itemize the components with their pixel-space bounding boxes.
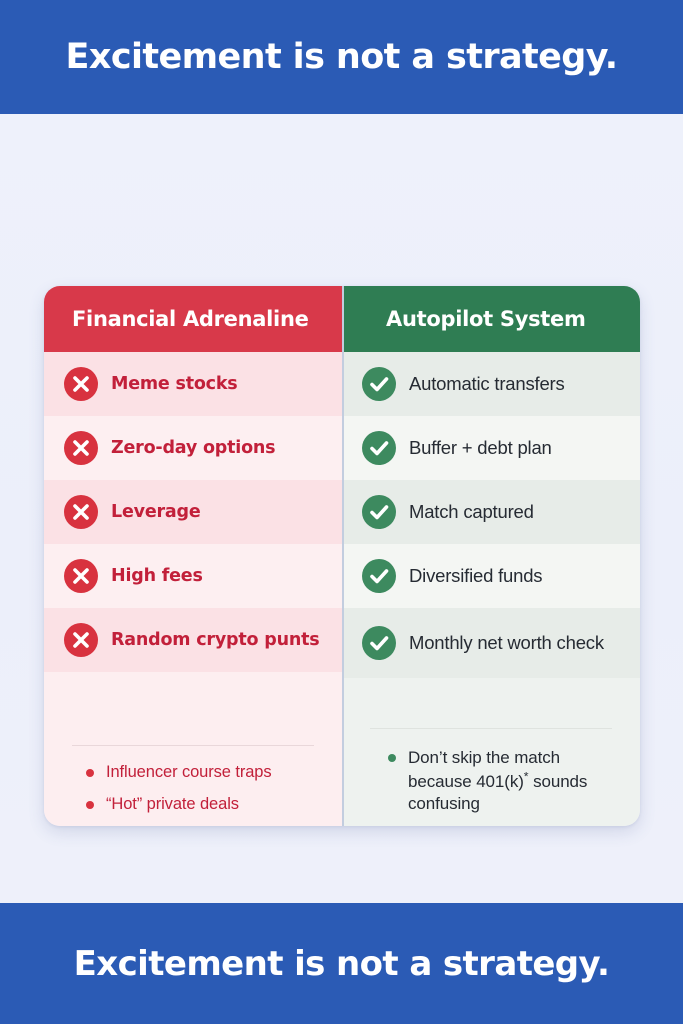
left-column-header-label: Financial Adrenaline [72, 307, 309, 331]
x-circle-icon [64, 367, 98, 401]
bottom-banner-text: Excitement is not a strategy. [74, 944, 610, 984]
list-item-label: Monthly net worth check [409, 632, 604, 654]
list-item[interactable]: Monthly net worth check [342, 608, 640, 678]
list-item[interactable]: Diversified funds [342, 544, 640, 608]
list-item[interactable]: Automatic transfers [342, 352, 640, 416]
x-circle-icon [64, 559, 98, 593]
sub-list-item[interactable]: Influencer course traps [84, 762, 318, 783]
list-item-label: Automatic transfers [409, 373, 565, 395]
sub-list-item-label: Influencer course traps [106, 763, 272, 781]
sub-list-item[interactable]: Don’t skip the match because 401(k)* sou… [386, 747, 616, 815]
list-item-label: Buffer + debt plan [409, 437, 552, 459]
list-item-label: Diversified funds [409, 565, 542, 587]
left-subsection: Influencer course traps “Hot” private de… [44, 745, 342, 826]
right-column-header-label: Autopilot System [370, 307, 586, 331]
check-circle-icon [362, 559, 396, 593]
right-column-rows: Automatic transfers Buffer + debt plan M… [342, 352, 640, 728]
sub-list-item-label: Don’t skip the match because 401(k)* sou… [408, 748, 587, 813]
bullet-dot-icon [388, 754, 396, 762]
list-item-label: Zero-day options [111, 438, 275, 459]
content-stage: Financial Adrenaline Meme stocks Zero-da… [0, 114, 683, 903]
comparison-card: Financial Adrenaline Meme stocks Zero-da… [44, 286, 640, 826]
list-item-label: Meme stocks [111, 374, 238, 395]
list-item[interactable]: Leverage [44, 480, 342, 544]
list-item-label: Leverage [111, 502, 201, 523]
list-item-label: High fees [111, 566, 203, 587]
list-item[interactable]: Meme stocks [44, 352, 342, 416]
sub-list-item[interactable]: “Hot” private deals [84, 794, 318, 815]
column-autopilot-system: Autopilot System Automatic transfers Buf… [342, 286, 640, 826]
column-financial-adrenaline: Financial Adrenaline Meme stocks Zero-da… [44, 286, 342, 826]
list-item-label: Match captured [409, 501, 534, 523]
left-column-header: Financial Adrenaline [44, 286, 342, 352]
check-circle-icon [362, 626, 396, 660]
bullet-dot-icon [86, 801, 94, 809]
left-column-rows: Meme stocks Zero-day options Leverage [44, 352, 342, 745]
list-item[interactable]: Match captured [342, 480, 640, 544]
sub-list-item-label: “Hot” private deals [106, 795, 239, 813]
x-circle-icon [64, 495, 98, 529]
right-sub-list: Don’t skip the match because 401(k)* sou… [360, 729, 622, 815]
right-subsection: Don’t skip the match because 401(k)* sou… [342, 728, 640, 826]
x-circle-icon [64, 431, 98, 465]
list-item-label: Random crypto punts [111, 630, 319, 651]
list-item[interactable]: Zero-day options [44, 416, 342, 480]
list-item[interactable]: High fees [44, 544, 342, 608]
check-circle-icon [362, 367, 396, 401]
list-item[interactable]: Buffer + debt plan [342, 416, 640, 480]
check-circle-icon [362, 431, 396, 465]
top-banner-text: Excitement is not a strategy. [66, 37, 618, 77]
bullet-dot-icon [86, 769, 94, 777]
list-item[interactable]: Random crypto punts [44, 608, 342, 672]
check-circle-icon [362, 495, 396, 529]
top-banner: Excitement is not a strategy. [0, 0, 683, 114]
x-circle-icon [64, 623, 98, 657]
bottom-banner: Excitement is not a strategy. [0, 903, 683, 1024]
left-sub-list: Influencer course traps “Hot” private de… [62, 746, 324, 815]
right-column-header: Autopilot System [342, 286, 640, 352]
